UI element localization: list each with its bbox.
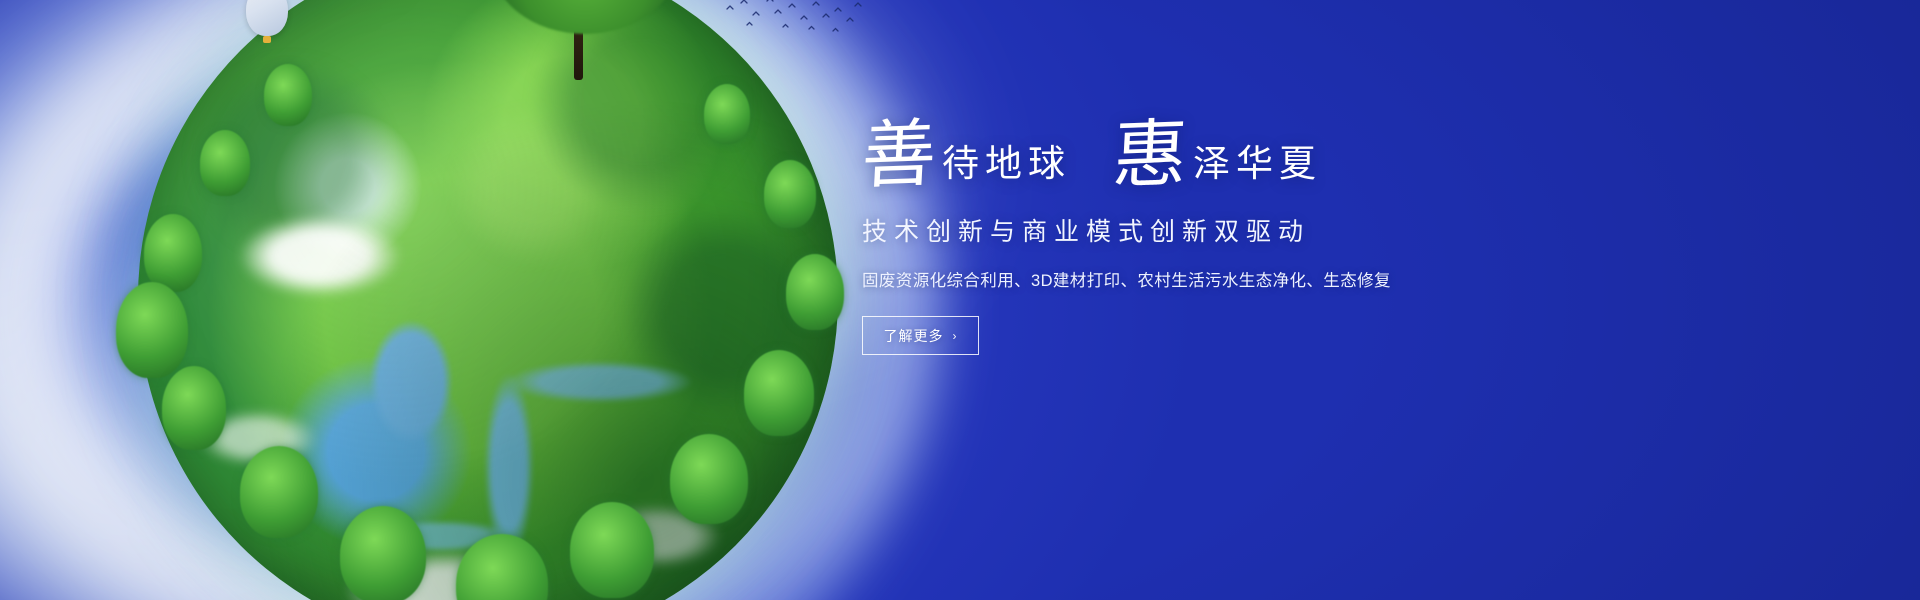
headline-small-2: 泽华夏 [1193, 146, 1322, 190]
headline-big-1: 善 [860, 121, 938, 192]
hero-banner: 善 待地球 惠 泽华夏 技术创新与商业模式创新双驱动 固废资源化综合利用、3D建… [0, 0, 1920, 600]
learn-more-button[interactable]: 了解更多 › [862, 316, 979, 355]
hero-subtitle: 技术创新与商业模式创新双驱动 [862, 212, 1482, 248]
headline-big-2: 惠 [1111, 121, 1189, 192]
learn-more-label: 了解更多 [884, 326, 944, 346]
headline-small-1: 待地球 [942, 146, 1071, 190]
page-title: 善 待地球 惠 泽华夏 [862, 122, 1482, 190]
hero-text-block: 善 待地球 惠 泽华夏 技术创新与商业模式创新双驱动 固废资源化综合利用、3D建… [862, 122, 1482, 355]
chevron-right-icon: › [953, 330, 958, 342]
hero-description: 固废资源化综合利用、3D建材打印、农村生活污水生态净化、生态修复 [862, 267, 1482, 291]
